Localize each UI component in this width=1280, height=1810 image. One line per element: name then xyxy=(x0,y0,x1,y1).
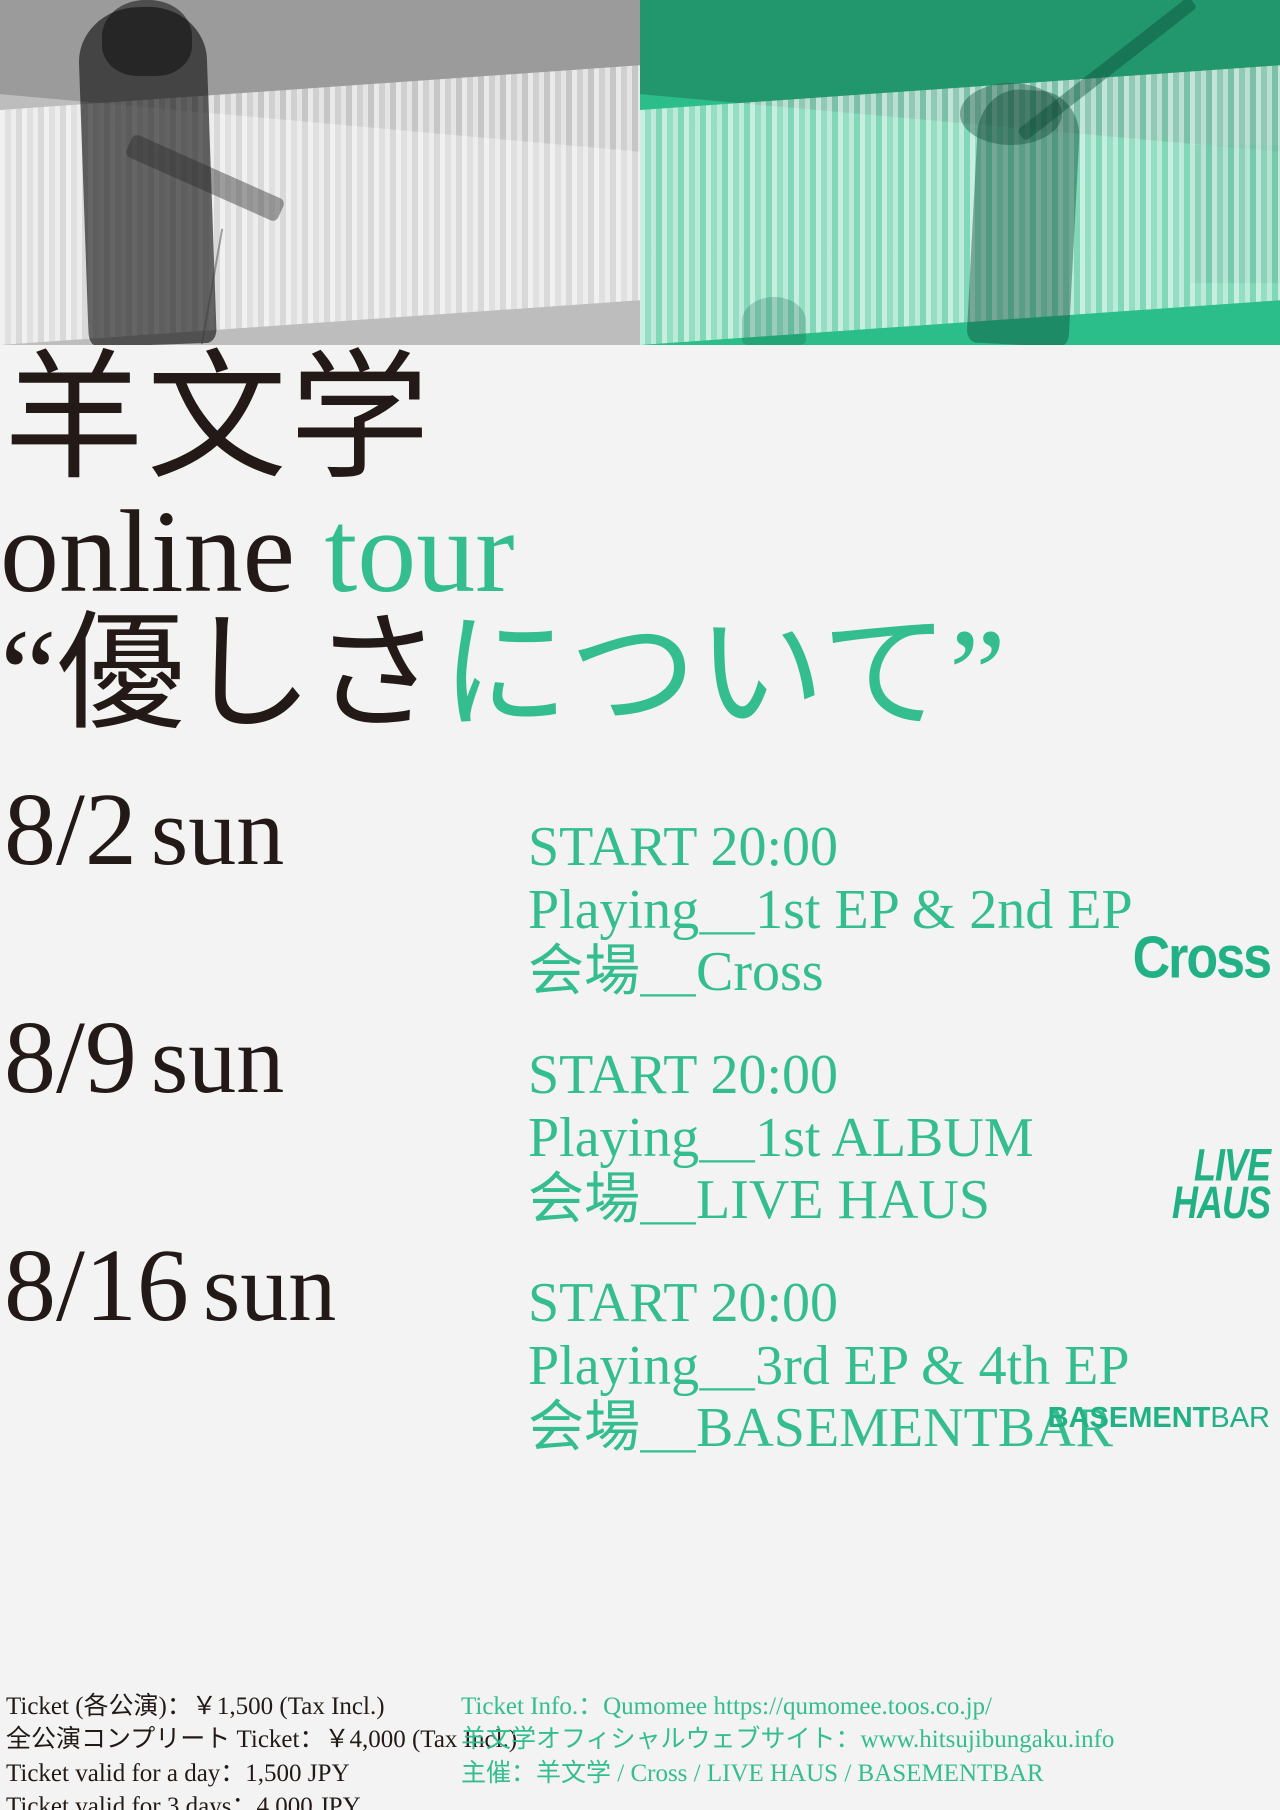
event-start-time: START 20:00 xyxy=(528,816,1133,879)
tour-title-line: “優しさについて” xyxy=(0,608,1280,736)
event-date: 8/16 xyxy=(4,1228,189,1343)
event-date: 8/2 xyxy=(4,772,137,887)
cross-logo: Cross xyxy=(1133,924,1270,993)
ticket-line: Ticket valid for 3 days：4,000 JPY xyxy=(6,1790,461,1810)
event-date-block: 8/2sun xyxy=(4,778,284,882)
ticket-price-info: Ticket (各公演)：￥1,500 (Tax Incl.) 全公演コンプリー… xyxy=(0,1690,461,1810)
event-row: 8/16sun START 20:00 Playing＿3rd EP & 4th… xyxy=(0,1234,1280,1462)
title-block: 羊文学 online tour “優しさについて” xyxy=(0,345,1280,736)
event-playing: Playing＿3rd EP & 4th EP xyxy=(528,1335,1130,1398)
event-date-block: 8/16sun xyxy=(4,1234,336,1338)
event-info-block: START 20:00 Playing＿1st ALBUM 会場＿LIVE HA… xyxy=(528,1044,1034,1232)
contact-info: Ticket Info.：Qumomee https://qumomee.too… xyxy=(461,1690,1114,1810)
organizer-line: 主催：羊文学 / Cross / LIVE HAUS / BASEMENTBAR xyxy=(461,1757,1114,1790)
event-weekday: sun xyxy=(137,1006,284,1113)
event-playing: Playing＿1st EP & 2nd EP xyxy=(528,879,1133,942)
tour-title-dark: 優しさ xyxy=(57,603,441,745)
events-list: 8/2sun START 20:00 Playing＿1st EP & 2nd … xyxy=(0,778,1280,1462)
live-haus-logo: LIVE HAUS xyxy=(1172,1147,1270,1221)
event-row: 8/2sun START 20:00 Playing＿1st EP & 2nd … xyxy=(0,778,1280,1006)
photo-right-guitarist xyxy=(640,0,1280,345)
ticket-line: Ticket (各公演)：￥1,500 (Tax Incl.) xyxy=(6,1690,461,1723)
basementbar-logo-thin: BAR xyxy=(1210,1402,1270,1434)
bassist-head-silhouette xyxy=(102,0,192,76)
event-start-time: START 20:00 xyxy=(528,1272,1130,1335)
artist-name-jp: 羊文学 xyxy=(0,345,1280,486)
ticket-line: Ticket valid for a day：1,500 JPY xyxy=(6,1757,461,1790)
event-venue: 会場＿BASEMENTBAR xyxy=(528,1397,1130,1460)
photo-left-bassist xyxy=(0,0,640,345)
basementbar-logo: BASEMENTBAR xyxy=(1048,1402,1270,1435)
event-info-block: START 20:00 Playing＿3rd EP & 4th EP 会場＿B… xyxy=(528,1272,1130,1460)
event-date: 8/9 xyxy=(4,1000,137,1115)
event-start-time: START 20:00 xyxy=(528,1044,1034,1107)
poster-root: 羊文学 online tour “優しさについて” 8/2sun START 2… xyxy=(0,0,1280,1810)
event-venue: 会場＿Cross xyxy=(528,941,1133,1004)
drum-silhouette xyxy=(742,297,806,345)
event-venue: 会場＿LIVE HAUS xyxy=(528,1169,1034,1232)
open-quote: “ xyxy=(0,603,57,745)
event-playing: Playing＿1st ALBUM xyxy=(528,1107,1034,1170)
footer: Ticket (各公演)：￥1,500 (Tax Incl.) 全公演コンプリー… xyxy=(0,1690,1280,1810)
live-haus-logo-line2: HAUS xyxy=(1172,1184,1270,1221)
tour-title-green: について xyxy=(441,603,949,745)
event-date-block: 8/9sun xyxy=(4,1006,284,1110)
tour-type-line: online tour xyxy=(0,486,1280,608)
close-quote: ” xyxy=(949,603,1006,745)
online-word: online xyxy=(0,486,324,617)
event-info-block: START 20:00 Playing＿1st EP & 2nd EP 会場＿C… xyxy=(528,816,1133,1004)
official-site-line[interactable]: 羊文学オフィシャルウェブサイト：www.hitsujibungaku.info xyxy=(461,1723,1114,1756)
basementbar-logo-bold: BASEMENT xyxy=(1048,1402,1211,1434)
tour-word: tour xyxy=(324,486,514,617)
event-row: 8/9sun START 20:00 Playing＿1st ALBUM 会場＿… xyxy=(0,1006,1280,1234)
event-weekday: sun xyxy=(189,1234,336,1341)
ticket-line: 全公演コンプリート Ticket：￥4,000 (Tax Incl.) xyxy=(6,1723,461,1756)
ticket-info-line[interactable]: Ticket Info.：Qumomee https://qumomee.too… xyxy=(461,1690,1114,1723)
header-photo-band xyxy=(0,0,1280,345)
event-weekday: sun xyxy=(137,778,284,885)
